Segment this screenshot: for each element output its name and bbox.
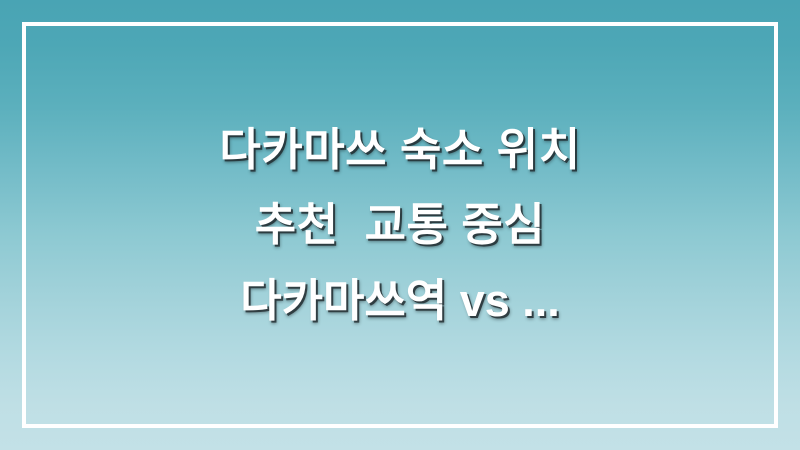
title-block: 다카마쓰 숙소 위치 추천 교통 중심 다카마쓰역 vs ... <box>0 0 800 450</box>
title-line-2: 추천 교통 중심 <box>255 201 545 248</box>
title-line-3: 다카마쓰역 vs ... <box>240 277 560 324</box>
title-line-1: 다카마쓰 숙소 위치 <box>219 126 580 173</box>
thumbnail-canvas: 다카마쓰 숙소 위치 추천 교통 중심 다카마쓰역 vs ... <box>0 0 800 450</box>
